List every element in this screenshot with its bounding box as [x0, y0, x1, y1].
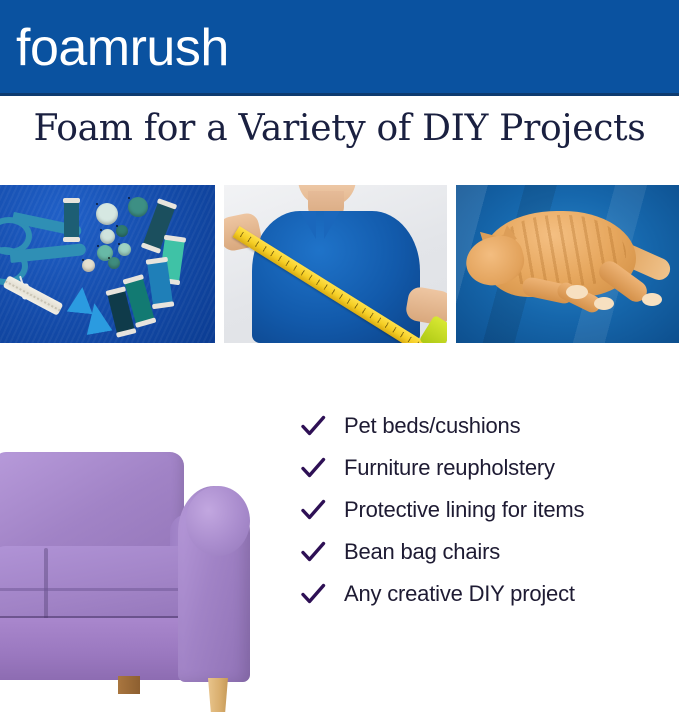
- sewing-button: [108, 257, 120, 269]
- sewing-button: [96, 203, 118, 225]
- checkmark-icon: [300, 539, 326, 565]
- sewing-button: [116, 225, 128, 237]
- sewing-supplies-photo: [0, 185, 215, 343]
- checkmark-icon: [300, 455, 326, 481]
- list-item: Any creative DIY project: [300, 573, 679, 615]
- checkmark-icon: [300, 581, 326, 607]
- tape-measure-photo: [224, 185, 447, 343]
- brand-banner: foamrush: [0, 0, 679, 96]
- sofa-seat-seam: [44, 548, 48, 626]
- checkmark-icon: [300, 497, 326, 523]
- list-item-label: Protective lining for items: [344, 497, 584, 523]
- sofa-leg-front: [208, 678, 228, 712]
- brand-logo-text: foamrush: [16, 18, 229, 78]
- photo-strip: [0, 185, 679, 343]
- page-title: Foam for a Variety of DIY Projects: [0, 108, 679, 149]
- cat-paw: [642, 293, 662, 306]
- list-item-label: Furniture reupholstery: [344, 455, 555, 481]
- list-item: Protective lining for items: [300, 489, 679, 531]
- benefits-checklist: Pet beds/cushions Furniture reupholstery…: [300, 405, 679, 615]
- cat-on-cushion-photo: [456, 185, 679, 343]
- list-item: Bean bag chairs: [300, 531, 679, 573]
- cat-paw: [594, 297, 614, 310]
- thread-spool: [64, 199, 79, 241]
- cat-paw: [566, 285, 588, 299]
- list-item: Furniture reupholstery: [300, 447, 679, 489]
- sewing-button: [82, 259, 95, 272]
- sewing-button: [128, 197, 148, 217]
- list-item-label: Any creative DIY project: [344, 581, 575, 607]
- shirt-collar-left: [300, 211, 316, 239]
- sofa-arm-roll: [186, 486, 250, 556]
- checkmark-icon: [300, 413, 326, 439]
- sewing-button: [118, 243, 131, 256]
- list-item: Pet beds/cushions: [300, 405, 679, 447]
- shirt-collar-right: [324, 211, 340, 239]
- list-item-label: Bean bag chairs: [344, 539, 500, 565]
- list-item-label: Pet beds/cushions: [344, 413, 520, 439]
- sewing-button: [100, 229, 115, 244]
- lavender-sofa-illustration: [0, 430, 270, 679]
